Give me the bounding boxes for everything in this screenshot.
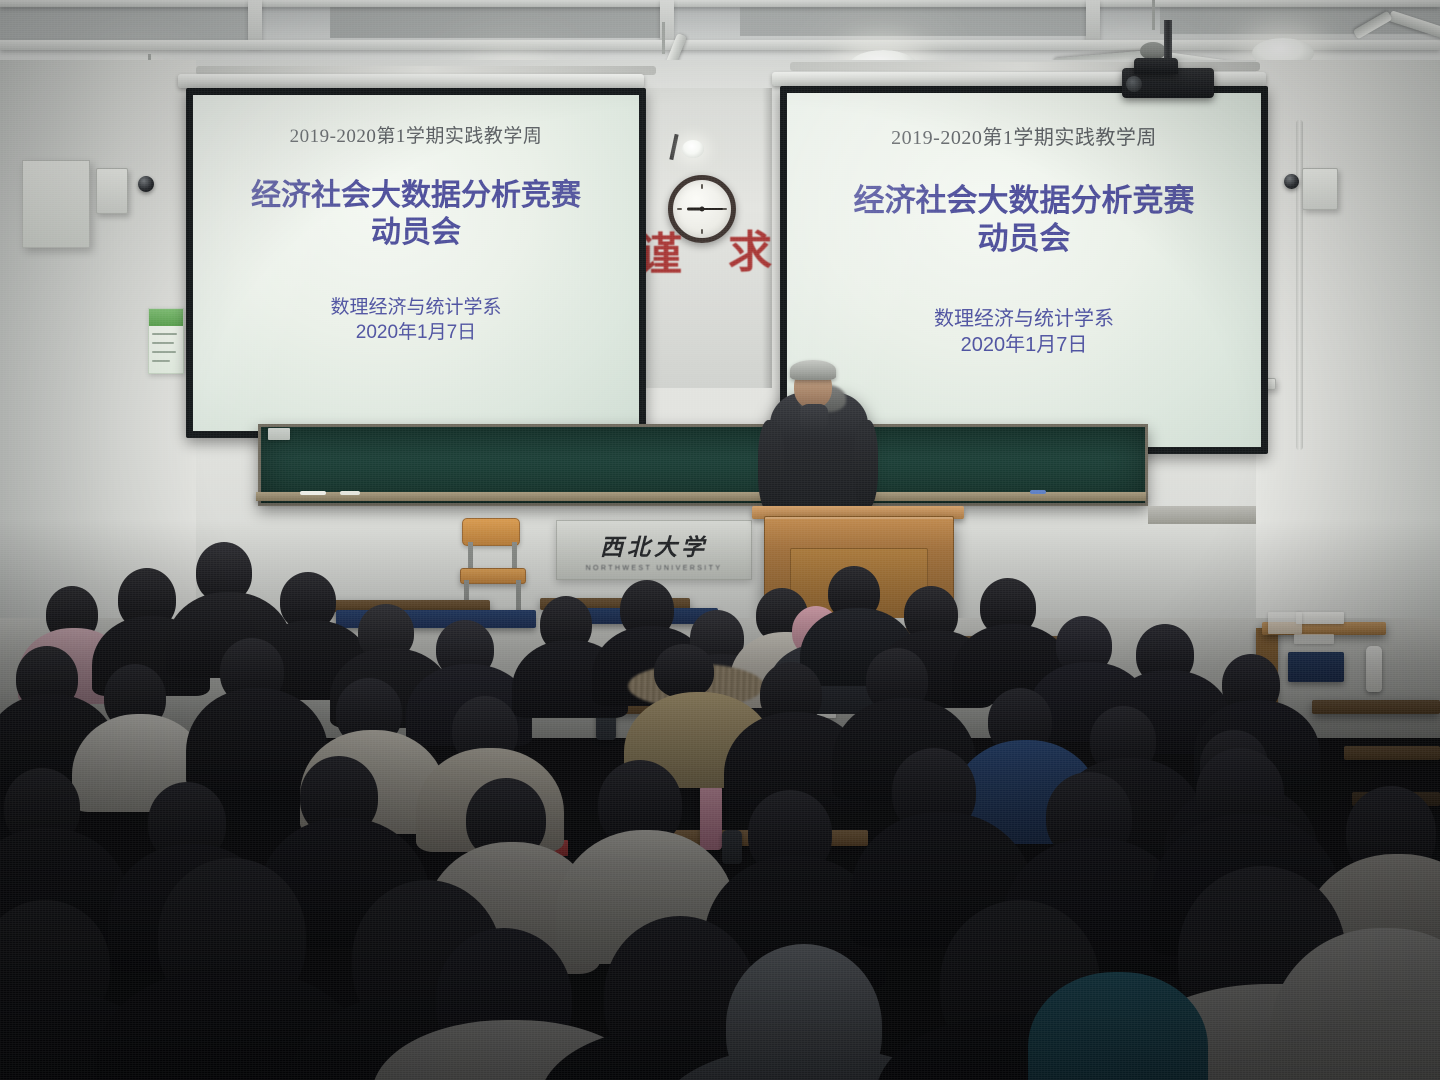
chalk-tray: [256, 492, 1146, 501]
wall-control-box: [96, 168, 128, 214]
left-projection-screen: 2019-2020第1学期实践教学周 经济社会大数据分析竞赛 动员会 数理经济与…: [186, 88, 646, 438]
slide-title-line1: 经济社会大数据分析竞赛: [854, 182, 1195, 220]
floor-step: [1148, 506, 1256, 524]
paper-on-desk: [1268, 612, 1302, 634]
desk: [1312, 700, 1440, 714]
ceiling-beam: [0, 40, 1440, 50]
niche-light: [682, 140, 704, 158]
slide-subtitle: 数理经济与统计学系 2020年1月7日: [934, 306, 1114, 359]
slide-title-line2: 动员会: [251, 215, 581, 252]
slide-title: 经济社会大数据分析竞赛 动员会: [854, 182, 1195, 258]
projector-top: [1134, 58, 1178, 74]
backpack: [1288, 652, 1344, 682]
chalk-piece: [340, 491, 360, 495]
wall-control-box: [1302, 168, 1338, 210]
thermos-bottle: [722, 830, 742, 864]
screen-housing: [178, 74, 644, 88]
slide-title-line2: 动员会: [854, 220, 1195, 258]
slide-subtitle-line2: 2020年1月7日: [934, 332, 1114, 358]
chalk-marker: [1030, 490, 1046, 494]
slide-header: 2019-2020第1学期实践教学周: [891, 121, 1157, 150]
university-sign: 西北大学 NORTHWEST UNIVERSITY: [556, 520, 752, 580]
projector-lens: [1126, 76, 1142, 92]
ceiling-beam: [0, 0, 1440, 7]
slide-header: 2019-2020第1学期实践教学周: [290, 121, 543, 148]
right-wall: [1256, 60, 1440, 640]
dome-camera-icon: [138, 176, 154, 192]
slide-subtitle-line1: 数理经济与统计学系: [330, 295, 501, 320]
slide-subtitle-line2: 2020年1月7日: [330, 320, 501, 345]
wall-flat-panel: [22, 160, 90, 248]
slide-subtitle-line1: 数理经济与统计学系: [934, 306, 1114, 332]
paper-on-desk: [1294, 634, 1334, 644]
speaker-cap: [790, 360, 836, 380]
slide-title: 经济社会大数据分析竞赛 动员会: [251, 178, 581, 251]
wall-character-right: 求: [728, 216, 772, 280]
slide-title-line1: 经济社会大数据分析竞赛: [251, 178, 581, 215]
speaker-scarf: [800, 404, 828, 430]
university-name-cn: 西北大学: [600, 528, 708, 562]
desk: [1344, 746, 1440, 760]
chalk-piece: [300, 491, 326, 495]
ceiling-beam: [1086, 0, 1100, 40]
wall-poster: [148, 308, 184, 374]
university-name-en: NORTHWEST UNIVERSITY: [586, 565, 723, 572]
dome-camera-icon: [1284, 174, 1299, 189]
board-note: [268, 428, 290, 440]
water-bottle: [700, 784, 722, 850]
paper-on-desk: [1296, 612, 1344, 624]
lecture-hall-photo: 谨 求 2019-2020第1学期实践教学周 经济社会大数据分析竞赛 动员会 数…: [0, 0, 1440, 1080]
thermos-bottle: [1366, 646, 1382, 692]
speaker-arm-left: [758, 420, 784, 512]
slide-subtitle: 数理经济与统计学系 2020年1月7日: [330, 295, 501, 345]
speaker-arm-right: [854, 420, 878, 508]
